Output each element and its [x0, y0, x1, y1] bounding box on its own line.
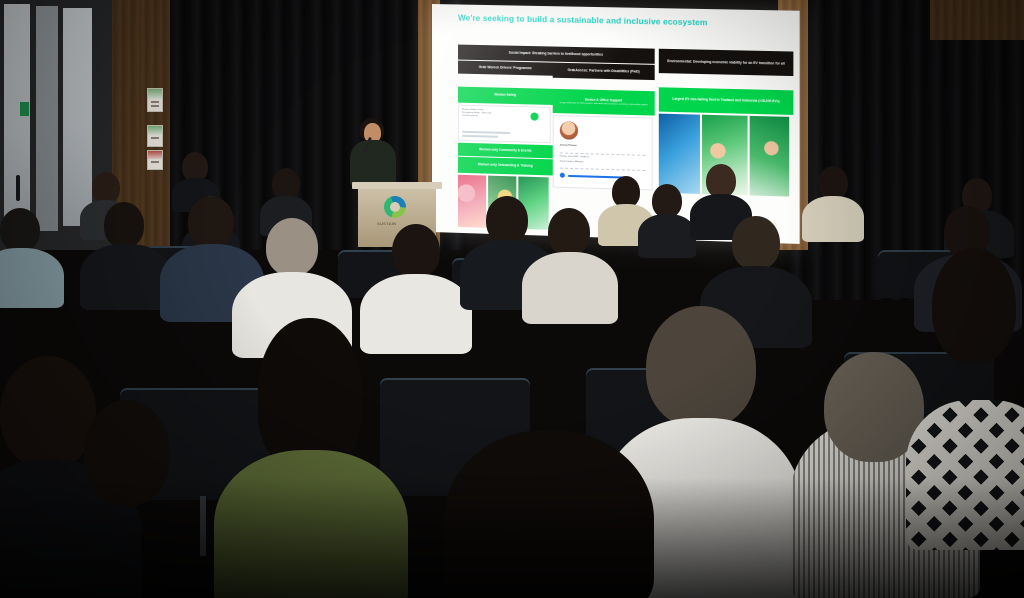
- head: [818, 166, 848, 200]
- presentation-room-photo: We're seeking to build a sustainable and…: [0, 0, 1024, 598]
- pillar-poster-safety: [147, 88, 163, 112]
- card-divider-2: [560, 168, 646, 171]
- head: [652, 184, 682, 218]
- slide-subheader-women-drivers: Grab Women Drivers' Programme: [458, 61, 553, 76]
- slide-subheader-grabaccess: GrabAccess: Partners with Disabilities (…: [553, 63, 655, 80]
- head: [84, 400, 170, 506]
- slide-banner-device-support: Device & Office Support In-app verificat…: [553, 89, 655, 116]
- app-mock-caption: Women Safety CentreEmergency button · Sh…: [462, 109, 516, 119]
- chair-leg: [200, 496, 206, 556]
- wood-wall-far-right: [930, 0, 1024, 40]
- head: [646, 306, 756, 428]
- shoulders: [802, 196, 864, 242]
- shoulders: [522, 252, 618, 324]
- partner-card: Jeremy Thomas Partner since 2019 · GrabC…: [553, 115, 653, 190]
- pillar-poster-info: [147, 150, 163, 170]
- head: [188, 196, 234, 248]
- head: [0, 356, 96, 468]
- shoulders: [0, 248, 64, 308]
- partner-line-2: Kuala Lumpur, Malaysia: [560, 161, 584, 165]
- card-status-dot: [560, 173, 565, 178]
- door-glass-2[interactable]: [36, 6, 58, 231]
- slide-header-environmental: Environmental: Developing economic viabi…: [659, 49, 794, 76]
- head: [266, 218, 318, 276]
- audience-member-argyle-cardigan: [906, 400, 1024, 550]
- head: [706, 164, 736, 198]
- door-mullion-2: [58, 0, 63, 250]
- slide-banner-women-safety: Women Safety: [458, 87, 553, 105]
- head: [732, 216, 780, 270]
- slide-title: We're seeking to build a sustainable and…: [458, 13, 785, 28]
- head: [444, 430, 654, 598]
- slide-banner-ev-fleet: Largest EV ride-hailing fleet in Thailan…: [659, 87, 794, 115]
- chip-text: Women-only Onboarding & Training: [478, 163, 533, 168]
- shoulders: [80, 244, 172, 310]
- head: [258, 318, 362, 468]
- head: [392, 224, 440, 278]
- partner-avatar: [560, 121, 578, 140]
- slide-photo-women-1: [458, 175, 486, 228]
- pillar-poster-recycle: [147, 125, 163, 147]
- shoulders: [214, 450, 408, 598]
- app-mock-chip: [530, 112, 538, 120]
- door-handle[interactable]: [16, 175, 20, 201]
- slide-chip-onboarding-training: Women-only Onboarding & Training: [458, 157, 553, 176]
- head: [104, 202, 144, 248]
- door-sticker: [20, 102, 29, 116]
- chip-text: Women-only Community & Events: [479, 148, 531, 153]
- presenter-torso: [350, 140, 396, 186]
- slide-photo-driver-2: [750, 116, 790, 197]
- shoulders: [638, 214, 696, 258]
- partner-line-1: Partner since 2019 · GrabCar: [560, 156, 589, 160]
- head: [486, 196, 528, 244]
- slide-chip-community-events: Women-only Community & Events: [458, 143, 553, 159]
- head: [548, 208, 590, 256]
- head: [0, 208, 40, 252]
- podium-logo-icon: [384, 196, 406, 218]
- banner-subtext: In-app verification for PwD partners, wi…: [560, 102, 648, 107]
- slide-photo-ev-charging: [659, 114, 700, 194]
- podium-text: SUSTAIN: [377, 221, 396, 226]
- banner-text: Largest EV ride-hailing fleet in Thailan…: [672, 98, 779, 104]
- head: [932, 248, 1016, 364]
- door-glass-3[interactable]: [62, 8, 92, 226]
- banner-text: Women Safety: [494, 94, 516, 98]
- shoulders: [360, 274, 472, 354]
- podium-top: [352, 182, 442, 189]
- partner-name: Jeremy Thomas: [560, 144, 577, 147]
